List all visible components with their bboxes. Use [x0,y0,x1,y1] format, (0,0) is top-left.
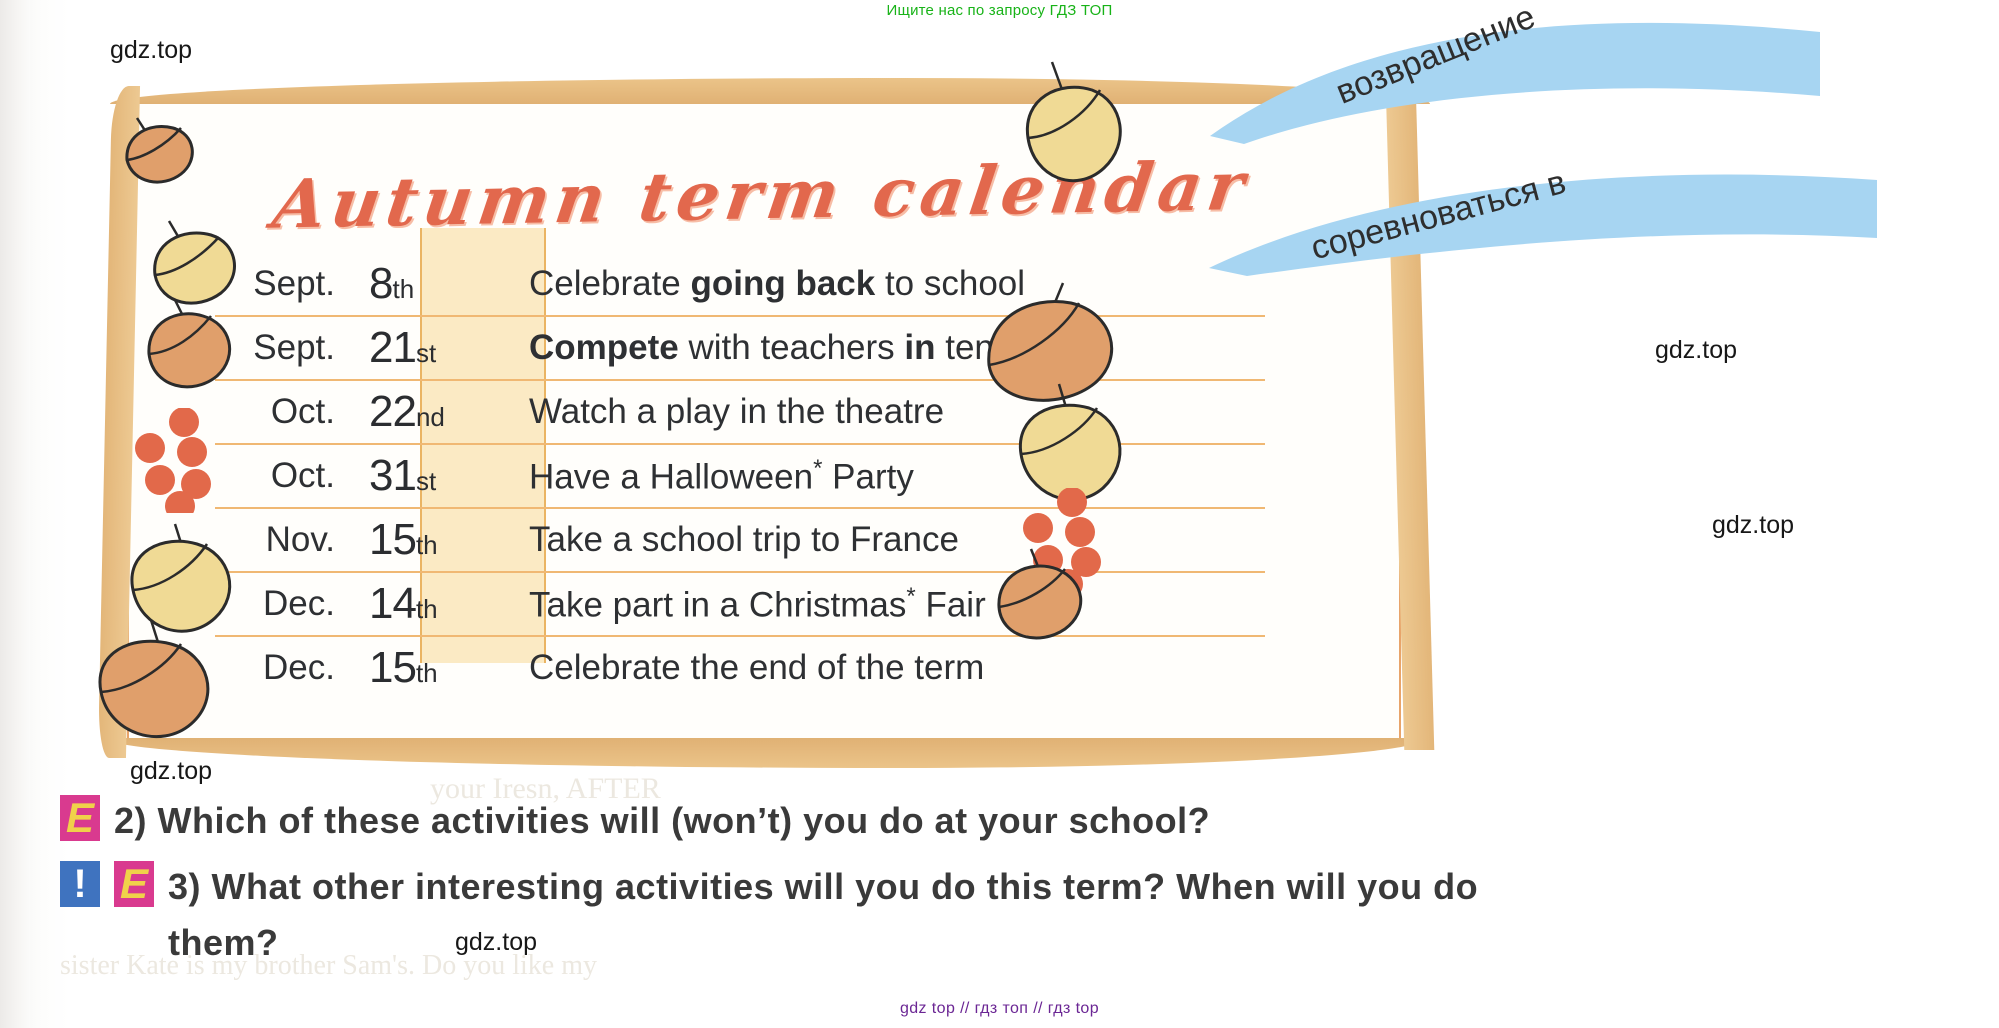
exercise-3-text-line2: them? [168,917,1478,969]
activity-text: Celebrate [529,264,690,303]
activity-text-2: with teachers [679,328,905,367]
calendar-activity-cell: Take part in a Christmas* Fair [499,583,986,626]
calendar-day-number: 14 [369,579,416,628]
calendar-day-suffix: th [392,274,414,304]
footnote-asterisk: * [813,455,822,482]
calendar-day-suffix: th [416,594,438,624]
watermark-text: gdz.top [110,36,192,65]
calendar-day-cell: 8th [351,259,499,309]
leaf-orange-mid-left-icon [133,296,263,411]
calendar-day-cell: 21st [351,323,499,373]
footnote-asterisk: * [906,583,915,610]
exclamation-glyph: ! [60,861,100,907]
berries-left-icon [130,408,235,513]
calendar-activity-cell: Celebrate the end of the term [499,648,984,688]
activity-text: Celebrate the end of the term [529,648,984,687]
activity-text: Take part in a Christmas [529,585,906,624]
calendar-day-number: 15 [369,643,416,692]
calendar-day-number: 31 [369,451,416,500]
activity-text-bold: Compete [529,328,679,367]
activity-text-2: Party [822,457,913,496]
calendar-day-cell: 15th [351,643,499,693]
activity-text-bold-2: in [904,328,935,367]
activity-text-bold: going back [690,264,875,303]
calendar-day-number: 15 [369,515,416,564]
exercise-e-badge-icon: E [60,795,100,841]
exercises-section: E 2) Which of these activities will (won… [60,795,1940,984]
footer-text: gdz top // гдз топ // гдз top [0,1000,1999,1018]
calendar-activity-cell: Compete with teachers in tennis [499,328,1039,368]
calendar-activity-cell: Have a Halloween* Party [499,455,914,498]
leaf-yellow-top-right-icon [1010,58,1145,218]
activity-text: Watch a play in the theatre [529,392,944,431]
calendar-day-suffix: st [416,466,436,496]
leaf-orange-top-left-icon [107,108,217,203]
activity-text-2: Fair [916,585,986,624]
calendar-row: Dec.15thCelebrate the end of the term [215,635,1265,699]
calendar-day-suffix: th [416,530,438,560]
page-gutter [0,0,30,1028]
calendar-activity-cell: Watch a play in the theatre [499,392,944,432]
calendar-day-cell: 14th [351,579,499,629]
watermark-text: gdz.top [1655,336,1737,365]
leaf-orange-bottom-left-icon [83,616,238,761]
calendar-day-cell: 31st [351,451,499,501]
calendar-day-suffix: nd [416,402,445,432]
calendar-day-number: 21 [369,323,416,372]
exercise-3-text-line1: 3) What other interesting activities wil… [168,861,1478,913]
calendar-month-cell: Oct. [215,456,351,496]
calendar-day-cell: 15th [351,515,499,565]
calendar-activity-cell: Take a school trip to France [499,520,959,560]
exercise-3-row: ! E 3) What other interesting activities… [60,861,1940,969]
e-glyph: E [60,795,100,841]
calendar-frame-bottom [105,738,1425,768]
activity-text: Take a school trip to France [529,520,959,559]
calendar-day-number: 8 [369,259,392,308]
calendar-day-suffix: th [416,658,438,688]
calendar-activity-cell: Celebrate going back to school [499,264,1025,304]
leaf-orange-bottom-right-icon [985,543,1105,658]
promo-banner-text: Ищите нас по запросу ГДЗ ТОП [0,2,1999,19]
watermark-text: gdz.top [1712,511,1794,540]
exercise-2-text: 2) Which of these activities will (won’t… [114,795,1210,847]
activity-text: Have a Halloween [529,457,813,496]
exercise-e-badge-icon-2: E [114,861,154,907]
calendar-day-number: 22 [369,387,416,436]
calendar-day-suffix: st [416,338,436,368]
exercise-2-row: E 2) Which of these activities will (won… [60,795,1940,847]
exercise-exclamation-badge-icon: ! [60,861,100,907]
e-glyph-2: E [114,861,154,907]
calendar-day-cell: 22nd [351,387,499,437]
